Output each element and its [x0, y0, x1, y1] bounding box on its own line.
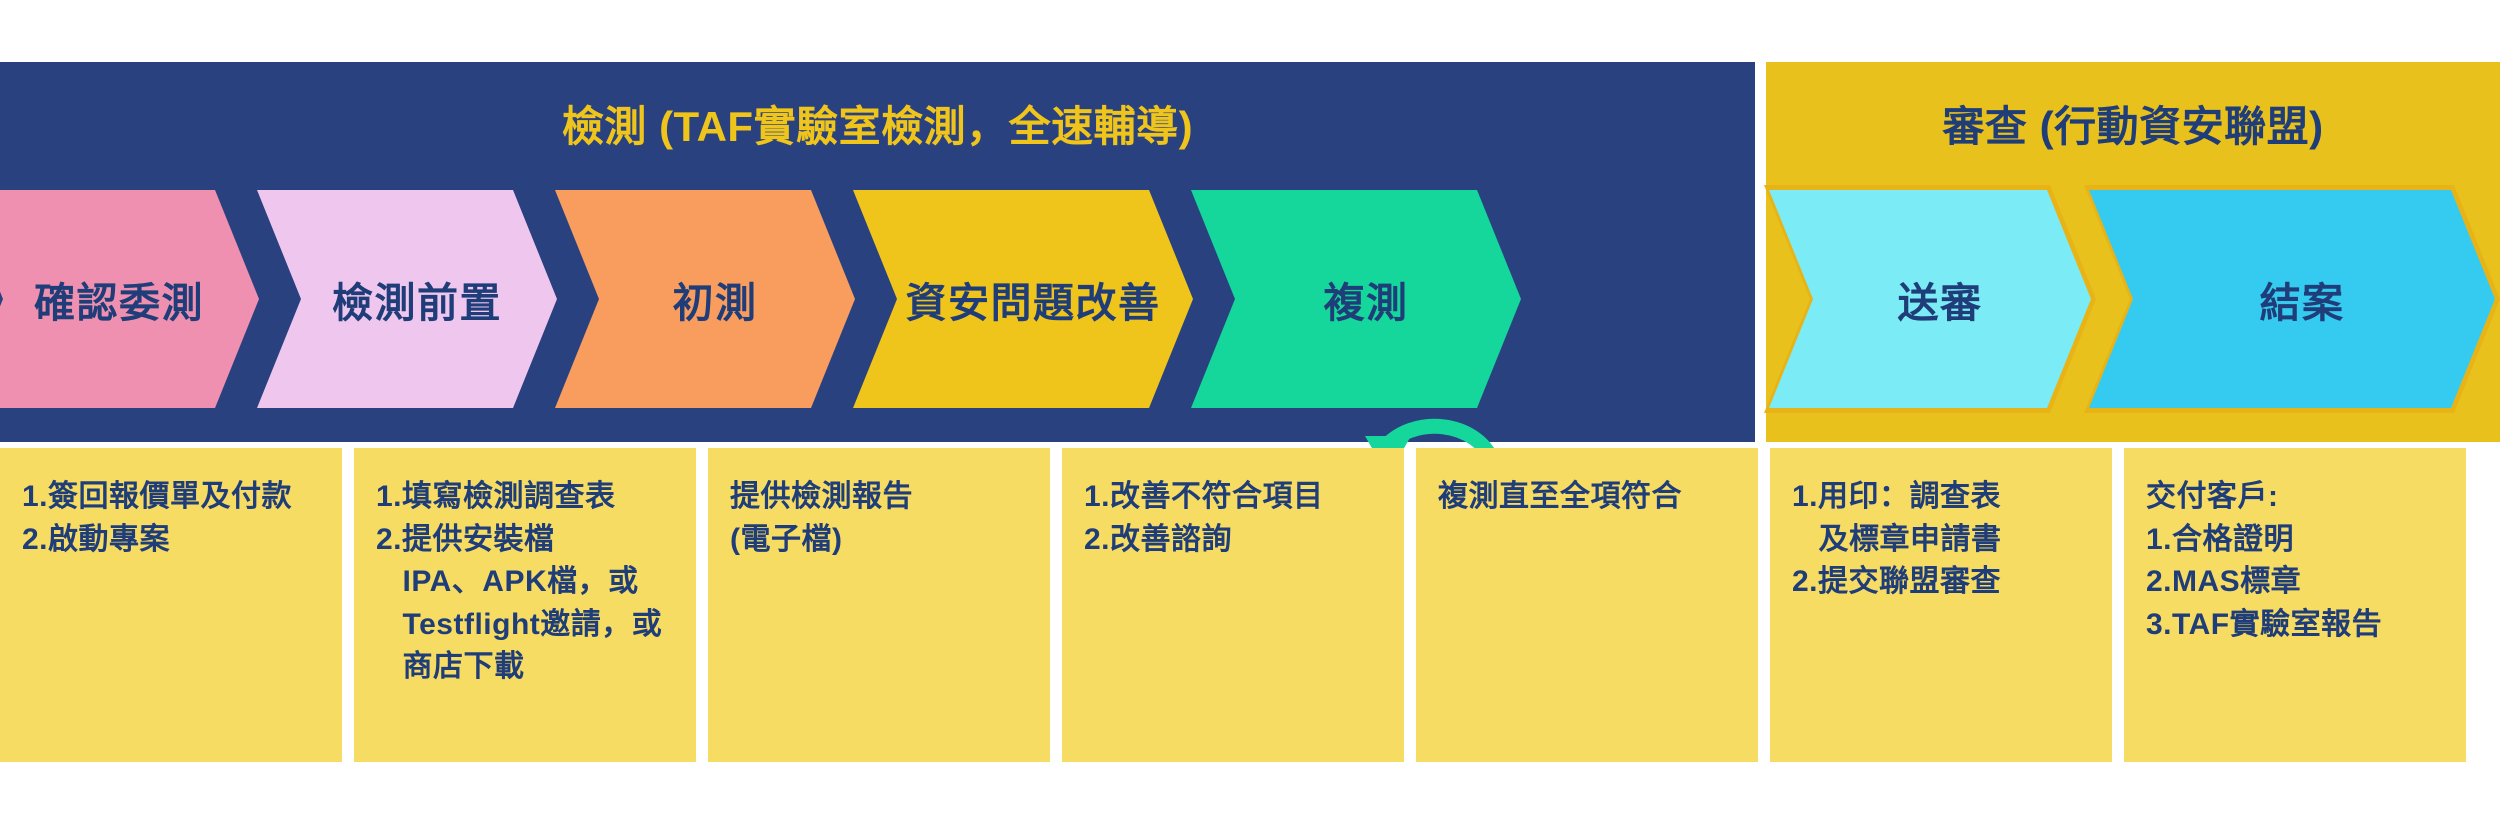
detail-box-row: 1.簽回報價單及付款 2.啟動專案 1.填寫檢測調查表 2.提供安裝檔 IPA、…: [0, 448, 2500, 762]
step-chevron-pre-test[interactable]: 檢測前置: [252, 185, 562, 413]
detail-line: 商店下載: [376, 646, 674, 689]
chevron-label: 檢測前置: [252, 185, 562, 413]
process-flow-diagram: 檢測 (TAF實驗室檢測，全速輔導) 審查 (行動資安聯盟) 確認委測 檢測前置…: [0, 0, 2500, 832]
detail-line: Testflight邀請，或: [376, 604, 674, 647]
detail-box-close-case: 交付客戶: 1.合格證明 2.MAS標章 3.TAF實驗室報告: [2124, 448, 2466, 762]
detail-line: 2.啟動專案: [22, 519, 320, 562]
step-chevron-submit-review[interactable]: 送審: [1764, 185, 2096, 413]
detail-line: 提供檢測報告: [730, 476, 1028, 519]
detail-line: IPA、APK檔，或: [376, 561, 674, 604]
chevron-label: 初測: [550, 185, 860, 413]
detail-line: 2.提供安裝檔: [376, 519, 674, 562]
detail-line: 1.簽回報價單及付款: [22, 476, 320, 519]
step-chevron-retest[interactable]: 複測: [1186, 185, 1526, 413]
detail-line: 交付客戶:: [2146, 476, 2444, 519]
detail-box-security-fix: 1.改善不符合項目 2.改善諮詢: [1062, 448, 1404, 762]
phase-header-review: 審查 (行動資安聯盟): [1766, 62, 2500, 184]
step-chevron-initial-test[interactable]: 初測: [550, 185, 860, 413]
chevron-label: 送審: [1764, 185, 2096, 413]
detail-line: 2.改善諮詢: [1084, 519, 1382, 562]
detail-line: 1.改善不符合項目: [1084, 476, 1382, 519]
phase-header-review-label: 審查 (行動資安聯盟): [1942, 93, 2323, 154]
chevron-label: 複測: [1186, 185, 1526, 413]
detail-line: 1.用印：調查表: [1792, 476, 2090, 519]
detail-box-submit-review: 1.用印：調查表 及標章申請書 2.提交聯盟審查: [1770, 448, 2112, 762]
chevron-label: 確認委測: [0, 185, 264, 413]
detail-line: 2.MAS標章: [2146, 561, 2444, 604]
chevron-label: 結案: [2084, 185, 2500, 413]
detail-box-retest: 複測直至全項符合: [1416, 448, 1758, 762]
detail-box-pre-test: 1.填寫檢測調查表 2.提供安裝檔 IPA、APK檔，或 Testflight邀…: [354, 448, 696, 762]
detail-line: (電子檔): [730, 519, 1028, 562]
step-chevron-security-fix[interactable]: 資安問題改善: [848, 185, 1198, 413]
detail-box-confirm-commission: 1.簽回報價單及付款 2.啟動專案: [0, 448, 342, 762]
detail-box-initial-test: 提供檢測報告 (電子檔): [708, 448, 1050, 762]
detail-line: 複測直至全項符合: [1438, 476, 1736, 519]
step-chevron-close-case[interactable]: 結案: [2084, 185, 2500, 413]
detail-line: 2.提交聯盟審查: [1792, 561, 2090, 604]
detail-line: 3.TAF實驗室報告: [2146, 604, 2444, 647]
step-chevron-row: 確認委測 檢測前置 初測 資安問題改善 複測 送審: [0, 185, 2500, 413]
detail-line: 1.合格證明: [2146, 519, 2444, 562]
phase-header-testing: 檢測 (TAF實驗室檢測，全速輔導): [0, 62, 1755, 184]
phase-header-testing-label: 檢測 (TAF實驗室檢測，全速輔導): [562, 93, 1193, 154]
detail-line: 1.填寫檢測調查表: [376, 476, 674, 519]
chevron-label: 資安問題改善: [848, 185, 1198, 413]
detail-line: 及標章申請書: [1792, 519, 2090, 562]
step-chevron-confirm-commission[interactable]: 確認委測: [0, 185, 264, 413]
